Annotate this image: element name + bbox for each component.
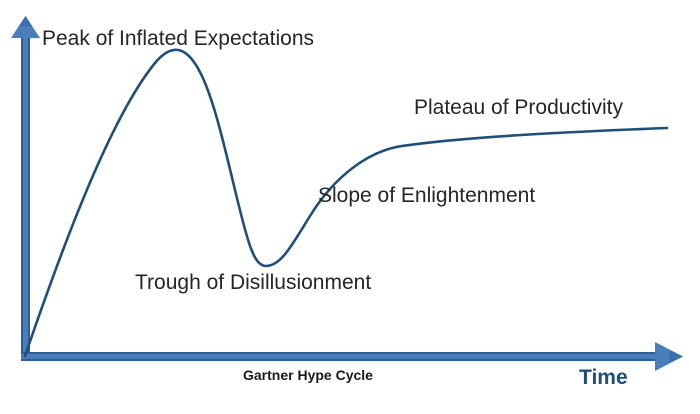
y-axis-arrowhead-edge bbox=[19, 16, 32, 26]
annotation-peak-of-inflated-expectations: Peak of Inflated Expectations bbox=[42, 28, 314, 49]
x-axis-title: Time bbox=[579, 367, 628, 388]
hype-cycle-chart: Peak of Inflated Expectations Plateau of… bbox=[0, 0, 700, 414]
chart-caption: Gartner Hype Cycle bbox=[243, 368, 373, 382]
x-axis-line-highlight bbox=[21, 352, 658, 354]
annotation-plateau-of-productivity: Plateau of Productivity bbox=[414, 97, 623, 118]
annotation-trough-of-disillusionment: Trough of Disillusionment bbox=[135, 272, 371, 293]
x-axis-line-shadow bbox=[21, 359, 658, 361]
y-axis-line-highlight bbox=[21, 32, 23, 357]
y-axis-line-shadow bbox=[28, 32, 30, 357]
x-axis-arrowhead-edge bbox=[669, 350, 683, 363]
annotation-slope-of-enlightenment: Slope of Enlightenment bbox=[318, 185, 535, 206]
chart-canvas bbox=[0, 0, 700, 414]
